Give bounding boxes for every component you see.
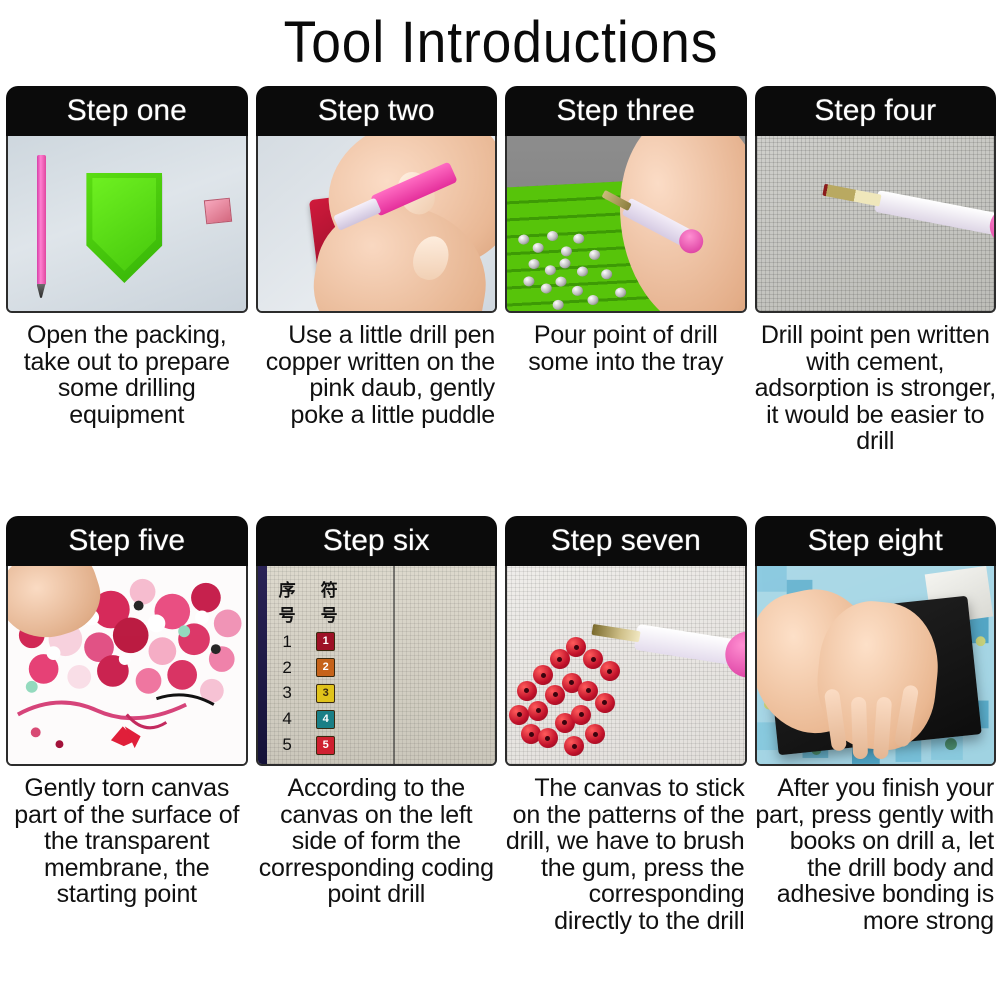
illustration-poking-wax: [258, 136, 496, 311]
step-caption-eight: After you finish your part, press gently…: [755, 766, 997, 934]
step-header-seven: Step seven: [505, 516, 747, 566]
step-header-label: Step two: [318, 96, 435, 126]
step-header-label: Step seven: [551, 526, 701, 556]
legend-index: 3: [274, 683, 300, 703]
legend-index: 2: [274, 658, 300, 678]
steps-row-2: Step five: [0, 516, 1002, 971]
legend-index: 4: [274, 709, 300, 729]
step-card-seven: Step seven The canvas to stick on the pa…: [505, 516, 747, 971]
step-card-six: Step six 序号 符号 1 1: [256, 516, 498, 971]
step-header-label: Step four: [814, 96, 936, 126]
step-header-one: Step one: [6, 86, 248, 136]
table-divider: [393, 566, 395, 764]
step-image-six: 序号 符号 1 1 2 2 3 3: [256, 566, 498, 766]
step-header-five: Step five: [6, 516, 248, 566]
legend-symbol-chip: 4: [316, 710, 335, 729]
step-caption-seven: The canvas to stick on the patterns of t…: [505, 766, 747, 934]
wax-square-icon: [204, 198, 232, 225]
table-row: 4 4: [274, 706, 393, 732]
step-header-six: Step six: [256, 516, 498, 566]
tool-introductions-poster: Tool Introductions Step one Open the pac…: [0, 0, 1002, 1002]
step-card-two: Step two Use a little drill pen copper w…: [256, 86, 498, 516]
table-row: 5 5: [274, 732, 393, 758]
step-header-label: Step one: [67, 96, 187, 126]
step-header-label: Step six: [323, 526, 430, 556]
illustration-pouring-drills: [507, 136, 745, 311]
step-caption-six: According to the canvas on the left side…: [256, 766, 498, 908]
step-card-five: Step five: [6, 516, 248, 971]
step-image-three: [505, 136, 747, 313]
step-image-seven: [505, 566, 747, 766]
table-row: 1 1: [274, 629, 393, 655]
illustration-pressing-board: [757, 566, 995, 764]
step-image-one: [6, 136, 248, 313]
legend-header-symbol: 符号: [316, 576, 342, 626]
step-header-eight: Step eight: [755, 516, 997, 566]
legend-table-header: 序号 符号: [274, 576, 393, 629]
illustration-placing-drills: [507, 566, 745, 764]
step-card-four: Step four Drill point pen written with c…: [755, 86, 997, 516]
legend-symbol-chip: 2: [316, 658, 335, 677]
step-caption-five: Gently torn canvas part of the surface o…: [6, 766, 248, 908]
finger-icon: [850, 696, 867, 758]
step-card-eight: Step eight: [755, 516, 997, 971]
illustration-peeling-film: [8, 566, 246, 764]
step-header-label: Step three: [557, 96, 695, 126]
illustration-legend-chart: 序号 符号 1 1 2 2 3 3: [258, 566, 496, 764]
step-card-three: Step three: [505, 86, 747, 516]
legend-header-index: 序号: [274, 576, 300, 626]
legend-index: 5: [274, 735, 300, 755]
table-row: 3 3: [274, 681, 393, 707]
drill-pen-icon: [634, 624, 747, 668]
step-caption-three: Pour point of drill some into the tray: [505, 313, 747, 375]
drill-pen-icon: [37, 155, 46, 285]
page-title: Tool Introductions: [40, 0, 962, 86]
step-card-one: Step one Open the packing, take out to p…: [6, 86, 248, 516]
step-caption-two: Use a little drill pen copper written on…: [256, 313, 498, 428]
legend-index: 1: [274, 632, 300, 652]
step-header-label: Step five: [68, 526, 185, 556]
step-header-four: Step four: [755, 86, 997, 136]
legend-symbol-chip: 3: [316, 684, 335, 703]
drill-pen-icon: [874, 190, 996, 238]
step-image-eight: [755, 566, 997, 766]
table-row: 2 2: [274, 655, 393, 681]
step-image-four: [755, 136, 997, 313]
step-header-three: Step three: [505, 86, 747, 136]
drill-tray-icon: [86, 173, 162, 283]
step-image-two: [256, 136, 498, 313]
illustration-packing-contents: [8, 136, 246, 311]
step-header-two: Step two: [256, 86, 498, 136]
legend-table: 序号 符号 1 1 2 2 3 3: [274, 576, 393, 758]
legend-symbol-chip: 1: [316, 632, 335, 651]
step-caption-one: Open the packing, take out to prepare so…: [6, 313, 248, 428]
canvas-edge: [258, 566, 268, 764]
illustration-pen-on-canvas: [757, 136, 995, 311]
steps-row-1: Step one Open the packing, take out to p…: [0, 86, 1002, 516]
step-caption-four: Drill point pen written with cement, ads…: [755, 313, 997, 455]
step-header-label: Step eight: [808, 526, 943, 556]
step-image-five: [6, 566, 248, 766]
legend-symbol-chip: 5: [316, 736, 335, 755]
